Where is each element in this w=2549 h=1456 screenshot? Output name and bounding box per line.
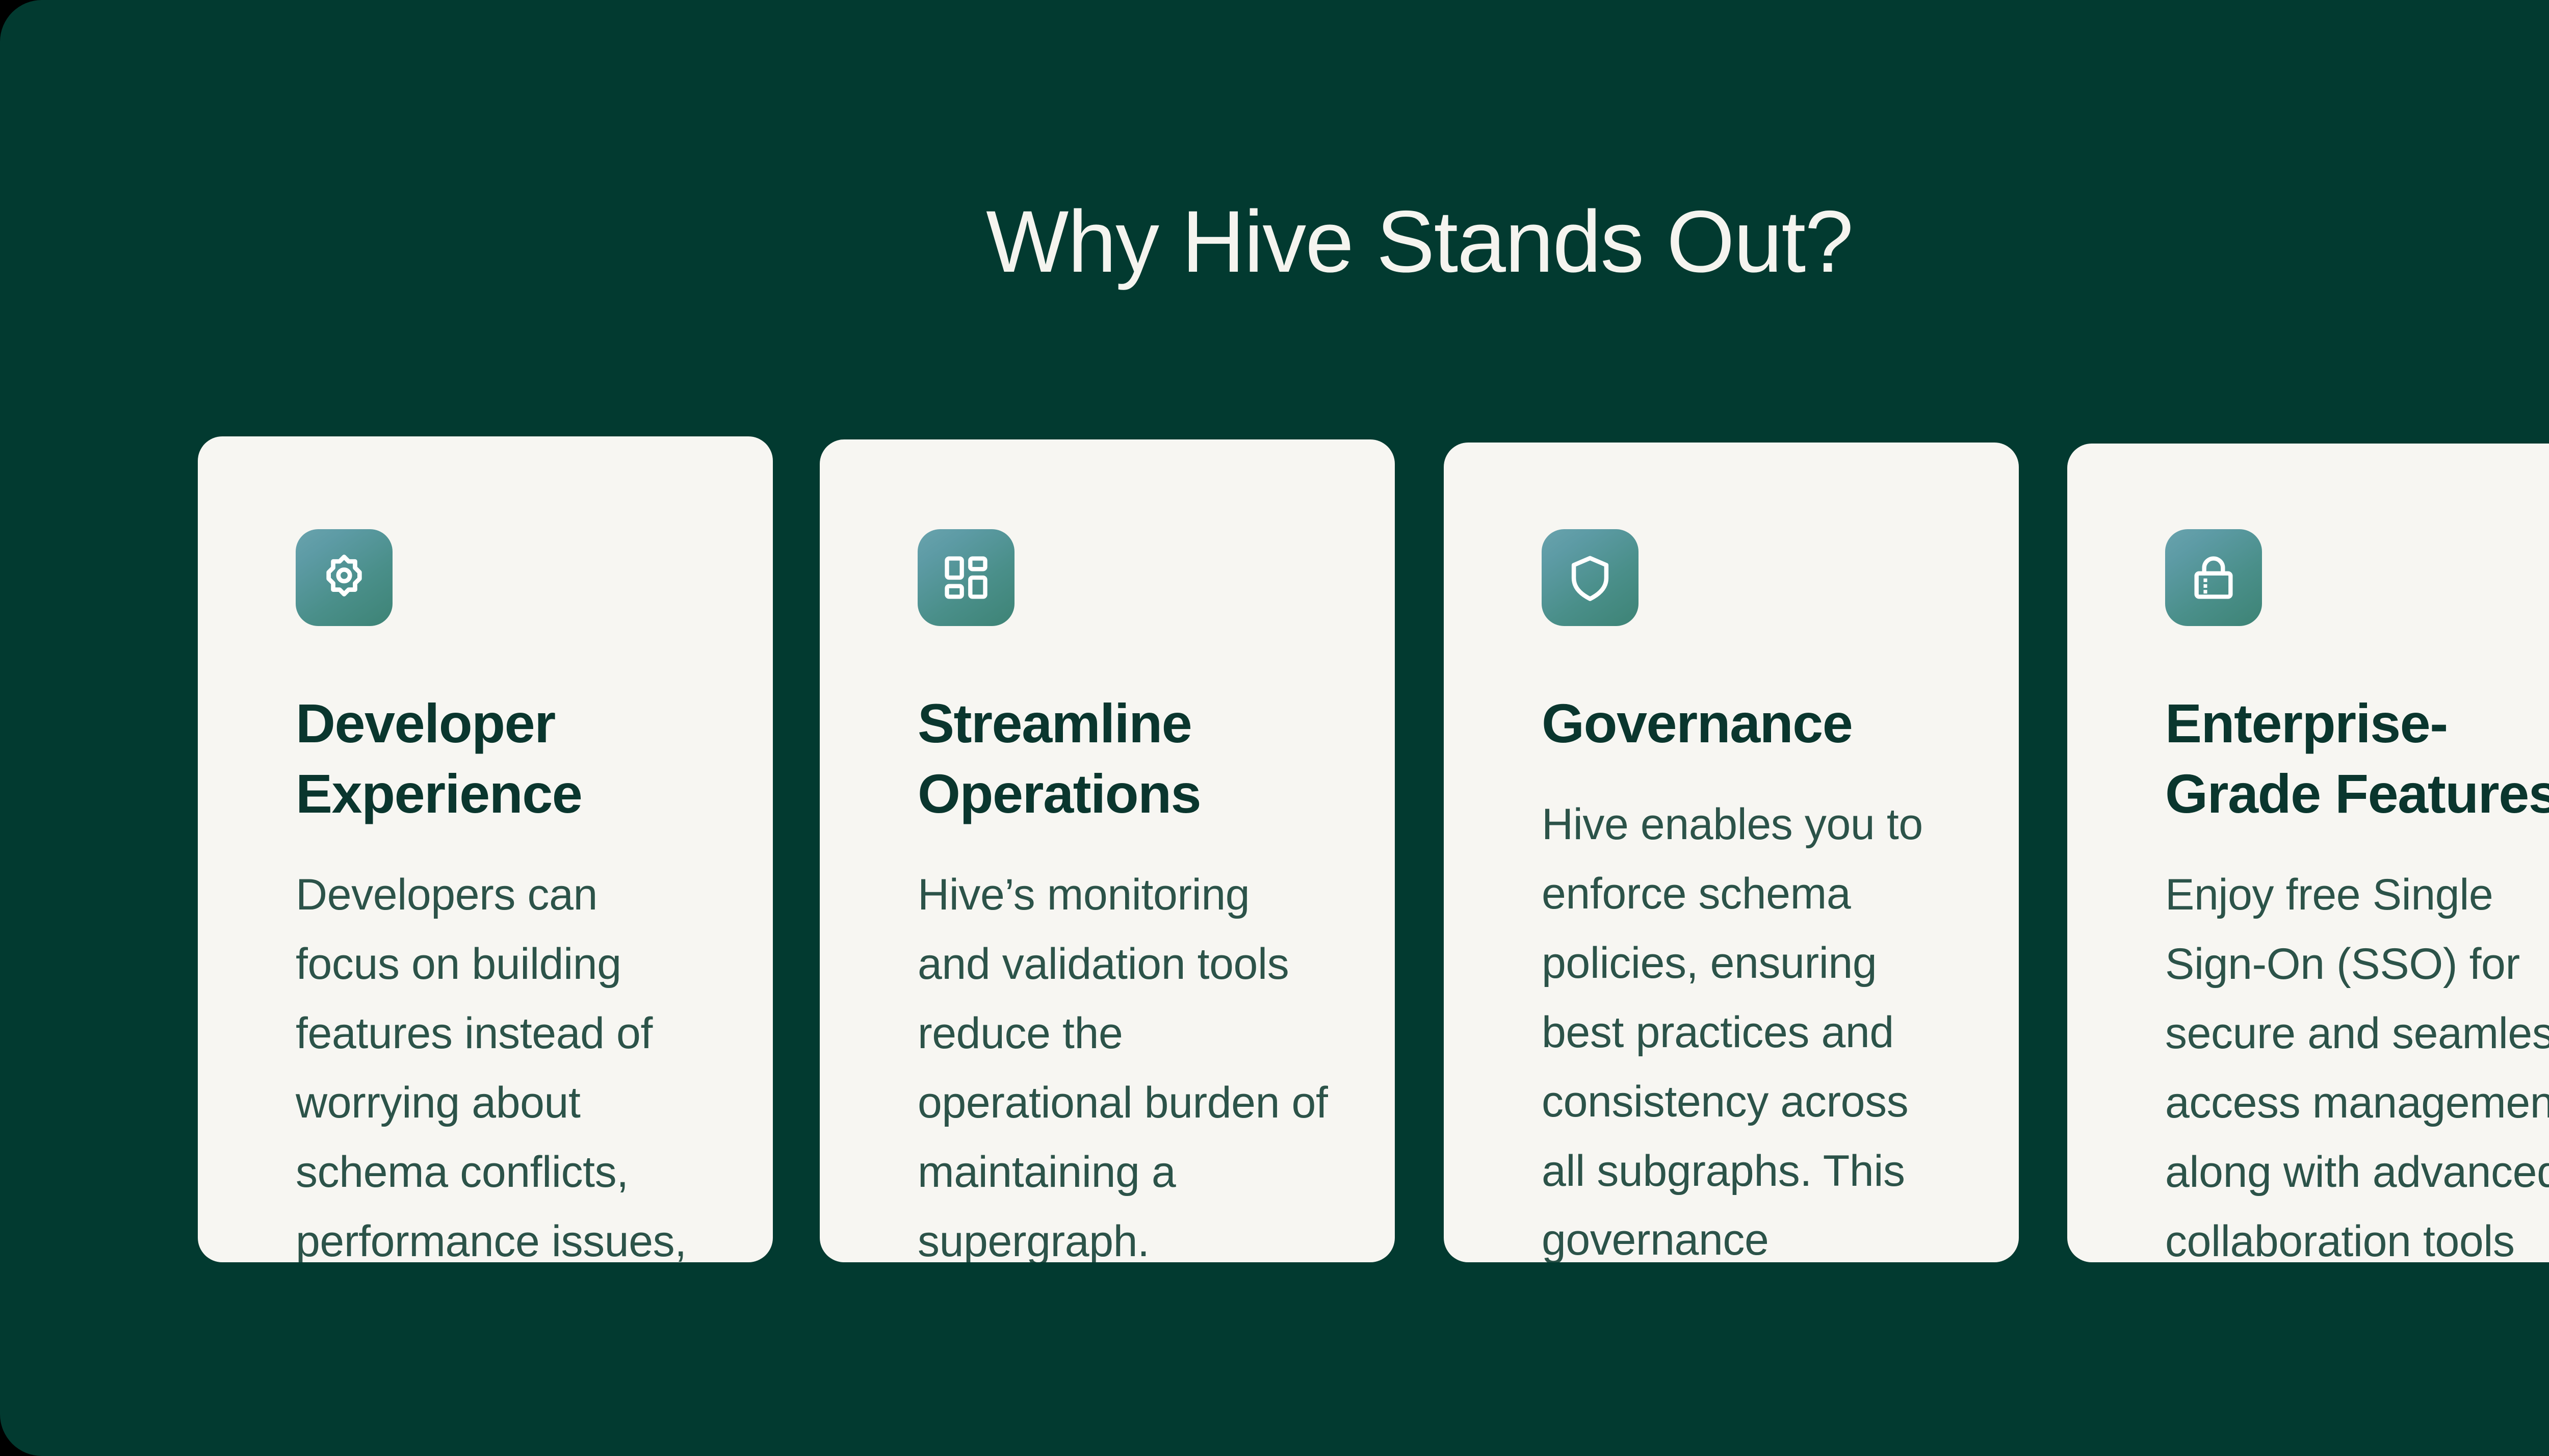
gear-icon-tile (296, 529, 393, 626)
card-content: Developer Experience Developers can focu… (296, 529, 701, 1262)
card-title: Developer Experience (296, 688, 701, 829)
feature-card-enterprise-grade-features[interactable]: Enterprise-Grade Features Enjoy free Sin… (2067, 444, 2549, 1262)
card-title: Governance (1542, 688, 1958, 759)
gear-icon (318, 551, 371, 604)
card-content: Streamline Operations Hive’s monitoring … (918, 529, 1329, 1262)
screenshot-stage: Why Hive Stands Out? Developer Experienc… (0, 0, 2549, 1456)
dashboard-grid-icon-tile (918, 529, 1015, 626)
card-content: Enterprise-Grade Features Enjoy free Sin… (2165, 529, 2549, 1262)
card-title: Enterprise-Grade Features (2165, 688, 2549, 829)
shield-icon (1564, 552, 1616, 604)
card-body: Hive’s monitoring and validation tools r… (918, 861, 1329, 1262)
card-body: Developers can focus on building feature… (296, 861, 701, 1262)
feature-card-developer-experience[interactable]: Developer Experience Developers can focu… (198, 436, 773, 1262)
feature-section-panel: Why Hive Stands Out? Developer Experienc… (0, 0, 2549, 1456)
feature-card-governance[interactable]: Governance Hive enables you to enforce s… (1444, 443, 2019, 1262)
card-body: Hive enables you to enforce schema polic… (1542, 790, 1958, 1262)
shield-icon-tile (1542, 529, 1638, 626)
card-title: Streamline Operations (918, 688, 1329, 829)
card-content: Governance Hive enables you to enforce s… (1542, 529, 1958, 1262)
page-title: Why Hive Stands Out? (0, 194, 2549, 290)
dashboard-grid-icon (941, 552, 992, 603)
feature-card-streamline-operations[interactable]: Streamline Operations Hive’s monitoring … (820, 439, 1395, 1262)
card-body: Enjoy free Single Sign-On (SSO) for secu… (2165, 861, 2549, 1262)
lock-icon-tile (2165, 529, 2262, 626)
lock-icon (2188, 552, 2239, 603)
